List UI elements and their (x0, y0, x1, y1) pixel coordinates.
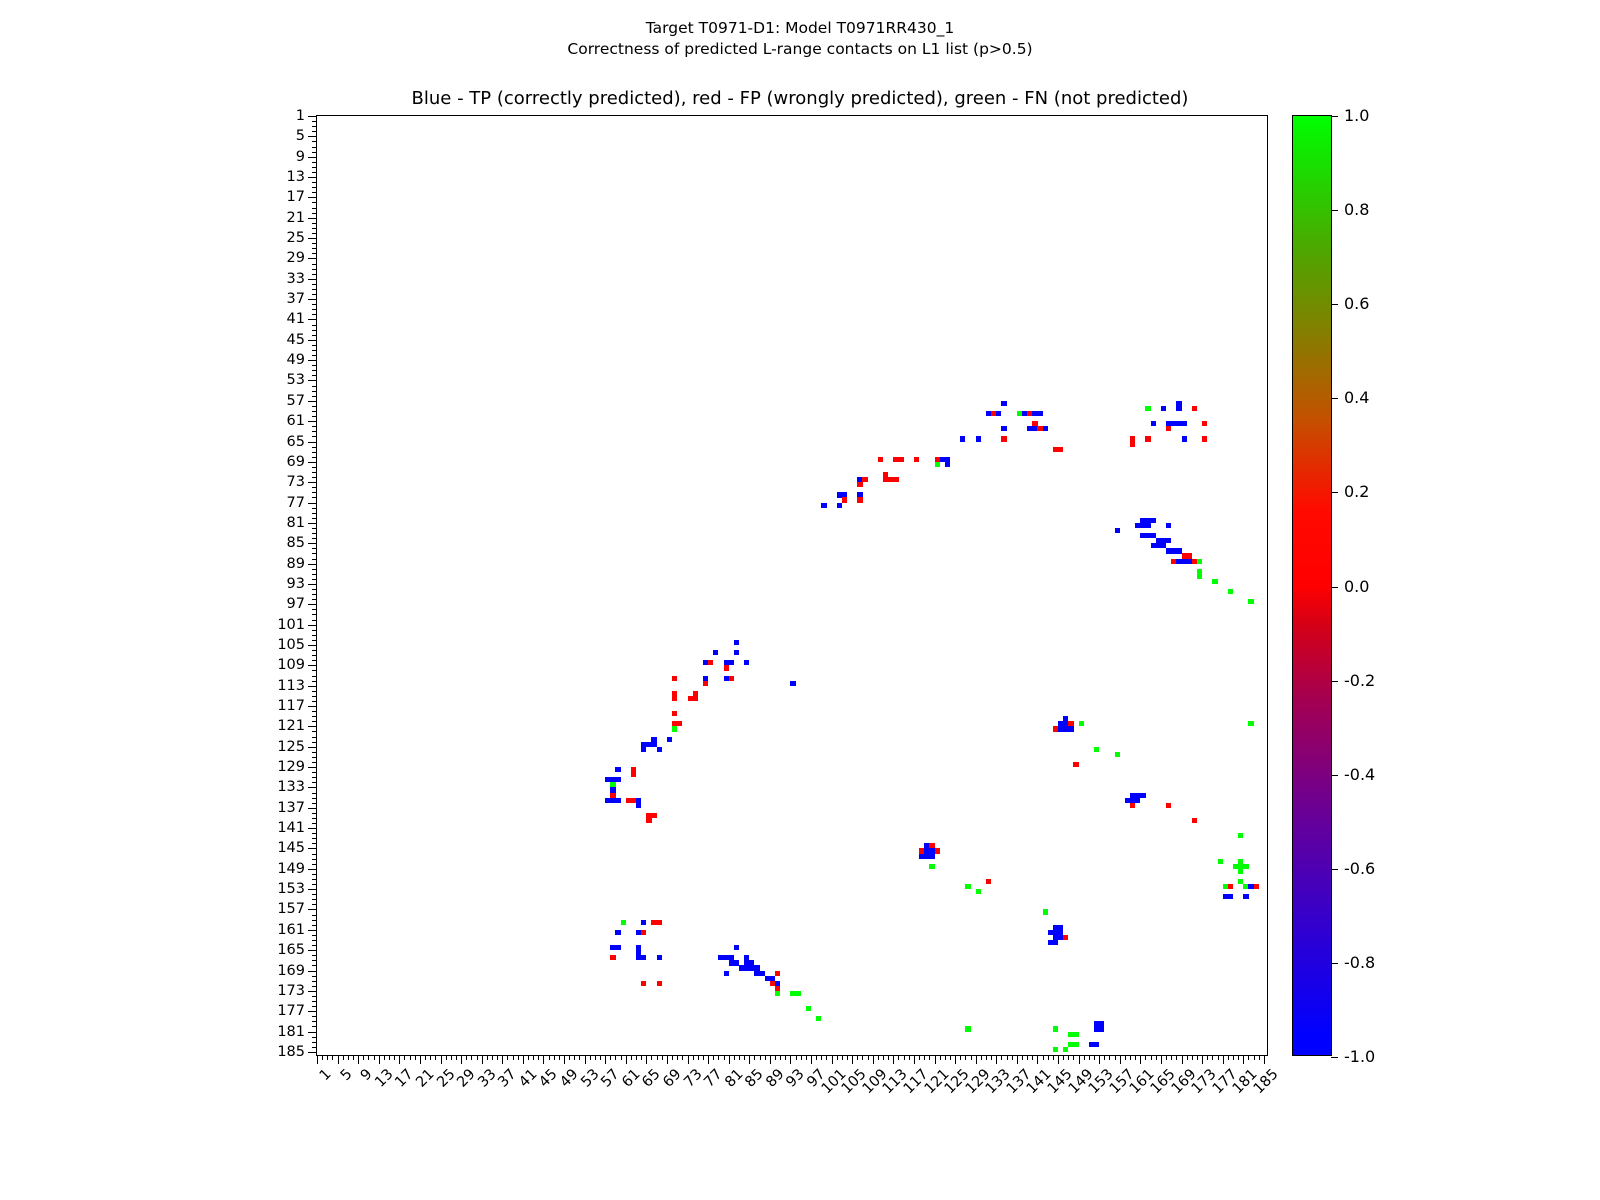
y-tick-minor (312, 691, 317, 692)
x-tick-minor (1218, 1055, 1219, 1060)
contact-cell-fn (965, 1026, 970, 1031)
contact-cell-tp (641, 747, 646, 752)
x-tick-minor (842, 1055, 843, 1060)
y-tick-label: 181 (277, 1024, 305, 1039)
y-tick-minor (312, 330, 317, 331)
contact-map-cells (317, 116, 1267, 1055)
x-tick-minor (868, 1055, 869, 1060)
contact-cell-tp (1166, 538, 1171, 543)
x-tick-major (852, 1055, 853, 1064)
colorbar-tick (1331, 210, 1338, 211)
y-tick-major (308, 930, 317, 931)
y-tick-minor (312, 670, 317, 671)
x-tick-minor (904, 1055, 905, 1060)
x-tick-minor (1228, 1055, 1229, 1060)
contact-cell-fp (672, 696, 677, 701)
y-tick-label: 93 (287, 577, 305, 592)
y-tick-minor (312, 192, 317, 193)
x-tick-minor (343, 1055, 344, 1060)
contact-cell-tp (615, 798, 620, 803)
y-tick-minor (312, 518, 317, 519)
y-tick-minor (312, 497, 317, 498)
y-tick-label: 61 (287, 414, 305, 429)
y-tick-label: 81 (287, 516, 305, 531)
y-tick-label: 9 (296, 149, 305, 164)
y-tick-minor (312, 182, 317, 183)
y-tick-minor (312, 355, 317, 356)
x-tick-minor (590, 1055, 591, 1060)
y-tick-major (308, 482, 317, 483)
x-tick-minor (857, 1055, 858, 1060)
contact-cell-tp (734, 650, 739, 655)
x-tick-minor (1012, 1055, 1013, 1060)
y-tick-label: 5 (296, 129, 305, 144)
contact-map-plot[interactable]: 1591317212529333741454953576165697377818… (316, 115, 1268, 1056)
contact-cell-tp (790, 681, 795, 686)
y-tick-minor (312, 309, 317, 310)
x-tick-minor (513, 1055, 514, 1060)
x-tick-minor (1254, 1055, 1255, 1060)
x-tick-minor (1084, 1055, 1085, 1060)
x-tick-minor (765, 1055, 766, 1060)
y-tick-minor (312, 208, 317, 209)
y-tick-minor (312, 716, 317, 717)
y-tick-minor (312, 777, 317, 778)
x-tick-minor (1176, 1055, 1177, 1060)
x-tick-major (1017, 1055, 1018, 1064)
y-tick-minor (312, 513, 317, 514)
y-tick-label: 73 (287, 475, 305, 490)
y-tick-major (308, 442, 317, 443)
y-tick-minor (312, 294, 317, 295)
x-tick-minor (332, 1055, 333, 1060)
y-tick-major (308, 584, 317, 585)
y-tick-major (308, 747, 317, 748)
y-tick-minor (312, 818, 317, 819)
y-tick-major (308, 848, 317, 849)
y-tick-minor (312, 833, 317, 834)
x-tick-minor (394, 1055, 395, 1060)
contact-cell-fn (1218, 859, 1223, 864)
y-tick-major (308, 787, 317, 788)
x-tick-minor (1073, 1055, 1074, 1060)
y-tick-minor (312, 782, 317, 783)
contact-cell-tp (1094, 1042, 1099, 1047)
y-tick-label: 169 (277, 963, 305, 978)
x-tick-major (1202, 1055, 1203, 1064)
y-tick-label: 185 (277, 1045, 305, 1060)
y-tick-minor (312, 696, 317, 697)
colorbar-tick-label: 0.4 (1344, 390, 1369, 406)
y-tick-major (308, 177, 317, 178)
x-tick-minor (862, 1055, 863, 1060)
contact-cell-fp (641, 930, 646, 935)
y-tick-minor (312, 253, 317, 254)
y-tick-label: 153 (277, 882, 305, 897)
x-tick-minor (1043, 1055, 1044, 1060)
x-tick-major (729, 1055, 730, 1064)
x-tick-minor (883, 1055, 884, 1060)
x-tick-minor (600, 1055, 601, 1060)
y-tick-major (308, 950, 317, 951)
x-tick-minor (662, 1055, 663, 1060)
y-tick-minor (312, 915, 317, 916)
contact-cell-fp (1058, 447, 1063, 452)
y-tick-minor (312, 594, 317, 595)
contact-cell-tp (729, 660, 734, 665)
x-tick-minor (631, 1055, 632, 1060)
y-tick-major (308, 625, 317, 626)
contact-cell-fn (1073, 1042, 1078, 1047)
y-tick-label: 173 (277, 984, 305, 999)
y-tick-major (308, 157, 317, 158)
colorbar-tick (1331, 1057, 1338, 1058)
contact-cell-fp (1254, 884, 1259, 889)
y-tick-label: 177 (277, 1004, 305, 1019)
x-tick-major (626, 1055, 627, 1064)
x-tick-minor (837, 1055, 838, 1060)
contact-cell-tp (1037, 411, 1042, 416)
y-tick-minor (312, 843, 317, 844)
contact-cell-tp (636, 803, 641, 808)
x-tick-major (1161, 1055, 1162, 1064)
contact-cell-tp (657, 747, 662, 752)
contact-cell-tp (713, 650, 718, 655)
x-tick-minor (1007, 1055, 1008, 1060)
contact-cell-tp (1115, 528, 1120, 533)
contact-cell-tp (734, 945, 739, 950)
y-tick-minor (312, 559, 317, 560)
y-tick-major (308, 279, 317, 280)
y-tick-minor (312, 793, 317, 794)
y-tick-label: 133 (277, 780, 305, 795)
y-tick-major (308, 1011, 317, 1012)
y-tick-minor (312, 772, 317, 773)
y-tick-minor (312, 457, 317, 458)
contact-cell-fp (631, 772, 636, 777)
y-tick-minor (312, 579, 317, 580)
colorbar-tick-label: 0.6 (1344, 296, 1369, 312)
y-tick-minor (312, 660, 317, 661)
y-tick-minor (312, 528, 317, 529)
y-tick-major (308, 319, 317, 320)
y-tick-minor (312, 981, 317, 982)
y-tick-label: 65 (287, 434, 305, 449)
x-tick-label: 1 (317, 1067, 334, 1084)
contact-cell-tp (1043, 426, 1048, 431)
y-tick-major (308, 340, 317, 341)
contact-cell-fn (1094, 747, 1099, 752)
contact-cell-fn (1053, 1047, 1058, 1052)
y-tick-minor (312, 141, 317, 142)
y-tick-label: 33 (287, 272, 305, 287)
x-tick-major (1058, 1055, 1059, 1064)
y-tick-minor (312, 233, 317, 234)
y-tick-major (308, 1052, 317, 1053)
contact-cell-fn (796, 991, 801, 996)
contact-cell-fp (898, 457, 903, 462)
contact-cell-fn (1243, 864, 1248, 869)
y-tick-minor (312, 152, 317, 153)
y-tick-minor (312, 676, 317, 677)
y-tick-minor (312, 1042, 317, 1043)
y-tick-label: 141 (277, 821, 305, 836)
y-tick-minor (312, 904, 317, 905)
contact-cell-fp (1073, 762, 1078, 767)
x-tick-major (585, 1055, 586, 1064)
y-tick-minor (312, 899, 317, 900)
y-tick-minor (312, 406, 317, 407)
y-tick-minor (312, 854, 317, 855)
y-tick-major (308, 991, 317, 992)
contact-cell-tp (976, 436, 981, 441)
contact-cell-fp (1192, 406, 1197, 411)
x-tick-minor (518, 1055, 519, 1060)
x-tick-minor (322, 1055, 323, 1060)
x-tick-minor (734, 1055, 735, 1060)
y-tick-minor (312, 167, 317, 168)
y-tick-major (308, 665, 317, 666)
x-tick-minor (744, 1055, 745, 1060)
contact-cell-fn (1228, 589, 1233, 594)
y-tick-minor (312, 335, 317, 336)
contact-cell-tp (1161, 406, 1166, 411)
y-tick-major (308, 564, 317, 565)
x-tick-minor (446, 1055, 447, 1060)
colorbar-tick (1331, 681, 1338, 682)
x-tick-minor (507, 1055, 508, 1060)
y-tick-major (308, 767, 317, 768)
y-tick-minor (312, 1037, 317, 1038)
x-tick-minor (368, 1055, 369, 1060)
y-tick-minor (312, 711, 317, 712)
contact-cell-tp (1145, 523, 1150, 528)
y-tick-minor (312, 375, 317, 376)
y-tick-major (308, 808, 317, 809)
y-tick-minor (312, 533, 317, 534)
y-tick-label: 129 (277, 760, 305, 775)
y-tick-minor (312, 269, 317, 270)
contact-cell-fn (775, 991, 780, 996)
y-tick-minor (312, 757, 317, 758)
contact-cell-fp (672, 711, 677, 716)
x-tick-minor (847, 1055, 848, 1060)
x-tick-major (667, 1055, 668, 1064)
x-tick-minor (430, 1055, 431, 1060)
colorbar-tick-label: -0.4 (1344, 767, 1375, 783)
x-tick-minor (796, 1055, 797, 1060)
x-tick-minor (1027, 1055, 1028, 1060)
colorbar-tick (1331, 963, 1338, 964)
contact-cell-fp (1130, 803, 1135, 808)
x-tick-minor (991, 1055, 992, 1060)
x-tick-major (605, 1055, 606, 1064)
title-line-2: Correctness of predicted L-range contact… (0, 39, 1600, 60)
contact-cell-fp (1192, 818, 1197, 823)
x-tick-minor (559, 1055, 560, 1060)
x-tick-major (770, 1055, 771, 1064)
y-tick-minor (312, 1001, 317, 1002)
y-tick-minor (312, 396, 317, 397)
contact-cell-tp (929, 854, 934, 859)
y-tick-major (308, 909, 317, 910)
x-tick-minor (924, 1055, 925, 1060)
y-tick-label: 117 (277, 699, 305, 714)
y-tick-minor (312, 1006, 317, 1007)
y-tick-minor (312, 762, 317, 763)
x-tick-minor (389, 1055, 390, 1060)
y-tick-minor (312, 431, 317, 432)
contact-cell-fn (965, 884, 970, 889)
contact-cell-fn (1238, 869, 1243, 874)
y-tick-label: 85 (287, 536, 305, 551)
contact-cell-fp (1130, 442, 1135, 447)
y-tick-minor (312, 314, 317, 315)
x-tick-minor (878, 1055, 879, 1060)
x-tick-minor (456, 1055, 457, 1060)
contact-cell-fn (1248, 599, 1253, 604)
x-tick-major (1243, 1055, 1244, 1064)
y-tick-label: 41 (287, 312, 305, 327)
x-tick-minor (538, 1055, 539, 1060)
x-tick-major (358, 1055, 359, 1064)
y-tick-major (308, 971, 317, 972)
y-tick-major (308, 136, 317, 137)
y-tick-label: 109 (277, 658, 305, 673)
y-tick-major (308, 360, 317, 361)
contact-cell-fn (976, 889, 981, 894)
contact-cell-tp (1176, 406, 1181, 411)
x-tick-minor (713, 1055, 714, 1060)
x-tick-minor (1115, 1055, 1116, 1060)
y-tick-minor (312, 264, 317, 265)
contact-cell-tp (821, 503, 826, 508)
x-tick-major (1120, 1055, 1121, 1064)
contact-cell-tp (1166, 523, 1171, 528)
colorbar-tick-label: 0.2 (1344, 484, 1369, 500)
contact-cell-fp (1166, 803, 1171, 808)
y-tick-minor (312, 416, 317, 417)
x-tick-minor (1259, 1055, 1260, 1060)
x-tick-minor (1192, 1055, 1193, 1060)
y-tick-minor (312, 548, 317, 549)
x-tick-minor (374, 1055, 375, 1060)
x-tick-minor (1151, 1055, 1152, 1060)
x-tick-minor (574, 1055, 575, 1060)
contact-cell-fn (806, 1006, 811, 1011)
y-tick-label: 21 (287, 210, 305, 225)
y-tick-minor (312, 1026, 317, 1027)
x-tick-minor (898, 1055, 899, 1060)
contact-cell-tp (734, 640, 739, 645)
x-tick-major (790, 1055, 791, 1064)
y-tick-major (308, 299, 317, 300)
y-tick-label: 89 (287, 556, 305, 571)
y-tick-label: 157 (277, 902, 305, 917)
y-tick-major (308, 401, 317, 402)
y-tick-minor (312, 955, 317, 956)
contact-cell-fn (1043, 909, 1048, 914)
x-tick-minor (693, 1055, 694, 1060)
x-tick-minor (1145, 1055, 1146, 1060)
colorbar-tick-label: -1.0 (1344, 1049, 1375, 1065)
contact-cell-fn (1248, 721, 1253, 726)
y-tick-minor (312, 945, 317, 946)
y-tick-minor (312, 467, 317, 468)
x-tick-minor (821, 1055, 822, 1060)
x-tick-label: 9 (359, 1067, 376, 1084)
contact-cell-tp (615, 930, 620, 935)
y-tick-minor (312, 894, 317, 895)
contact-cell-fp (703, 681, 708, 686)
y-tick-major (308, 889, 317, 890)
contact-cell-fp (1202, 421, 1207, 426)
y-tick-minor (312, 447, 317, 448)
contact-cell-fn (1079, 721, 1084, 726)
contact-cell-tp (641, 955, 646, 960)
x-tick-minor (945, 1055, 946, 1060)
y-tick-minor (312, 452, 317, 453)
colorbar: 1.00.80.60.40.20.0-0.2-0.4-0.6-0.8-1.0 (1292, 115, 1332, 1056)
y-tick-major (308, 645, 317, 646)
contact-cell-fp (1166, 426, 1171, 431)
x-tick-minor (1104, 1055, 1105, 1060)
x-tick-major (708, 1055, 709, 1064)
x-tick-major (482, 1055, 483, 1064)
colorbar-tick-label: -0.2 (1344, 673, 1375, 689)
x-tick-major (935, 1055, 936, 1064)
contact-cell-fp (693, 691, 698, 696)
colorbar-tick-label: 0.8 (1344, 202, 1369, 218)
contact-cell-fp (857, 497, 862, 502)
y-tick-minor (312, 879, 317, 880)
y-tick-minor (312, 386, 317, 387)
x-tick-minor (636, 1055, 637, 1060)
y-tick-minor (312, 131, 317, 132)
x-tick-minor (724, 1055, 725, 1060)
contact-cell-fp (914, 457, 919, 462)
y-tick-minor (312, 630, 317, 631)
x-tick-major (379, 1055, 380, 1064)
x-tick-minor (971, 1055, 972, 1060)
contact-cell-fp (657, 981, 662, 986)
y-tick-label: 69 (287, 455, 305, 470)
y-tick-minor (312, 289, 317, 290)
colorbar-tick-label: -0.6 (1344, 861, 1375, 877)
colorbar-tick (1331, 587, 1338, 588)
colorbar-tick-label: -0.8 (1344, 955, 1375, 971)
x-tick-major (1037, 1055, 1038, 1064)
x-tick-minor (435, 1055, 436, 1060)
x-tick-minor (466, 1055, 467, 1060)
contact-cell-fp (677, 721, 682, 726)
x-tick-label: 185 (1251, 1067, 1281, 1097)
contact-cell-tp (1099, 1026, 1104, 1031)
x-tick-minor (610, 1055, 611, 1060)
y-tick-label: 137 (277, 801, 305, 816)
x-tick-minor (348, 1055, 349, 1060)
y-tick-minor (312, 508, 317, 509)
x-tick-minor (1125, 1055, 1126, 1060)
y-tick-minor (312, 213, 317, 214)
y-tick-minor (312, 986, 317, 987)
x-tick-minor (621, 1055, 622, 1060)
y-tick-minor (312, 920, 317, 921)
figure-canvas: Target T0971-D1: Model T0971RR430_1 Corr… (0, 0, 1600, 1200)
y-tick-minor (312, 553, 317, 554)
y-tick-label: 97 (287, 597, 305, 612)
x-tick-minor (528, 1055, 529, 1060)
